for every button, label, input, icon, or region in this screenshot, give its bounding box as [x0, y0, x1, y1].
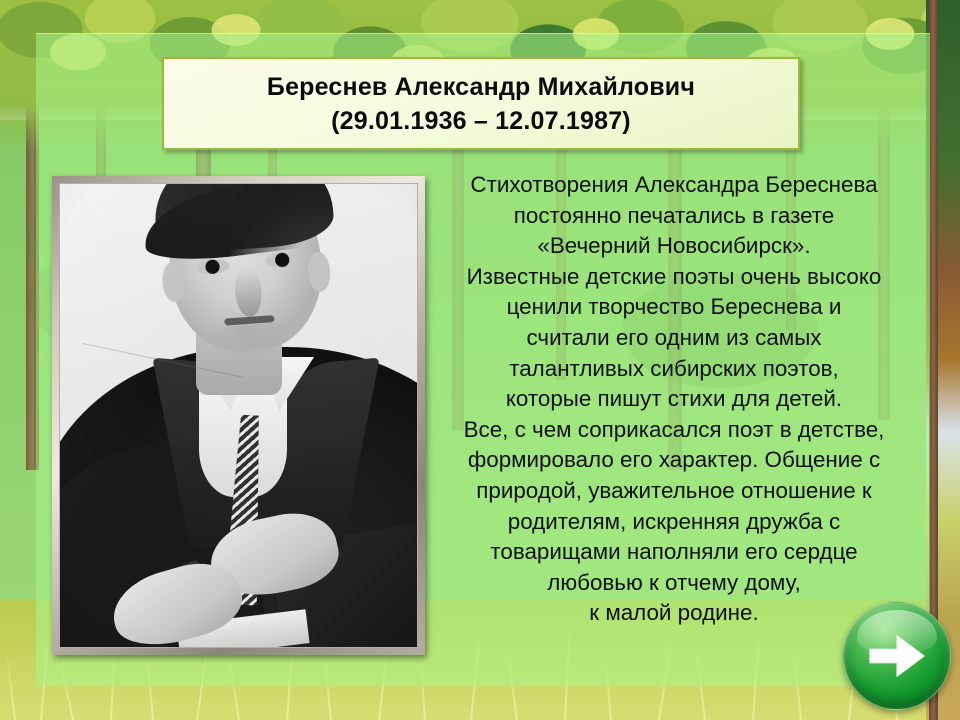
biography-line: к малой родине.	[438, 598, 910, 629]
biography-line: которые пишут стихи для детей.	[438, 384, 910, 415]
title-box: Береснев Александр Михайлович (29.01.193…	[162, 57, 800, 150]
arrow-right-icon	[866, 625, 928, 687]
biography-line: считали его одним из самых	[438, 323, 910, 354]
next-slide-button[interactable]	[843, 602, 951, 710]
portrait-photo	[60, 184, 417, 647]
biography-line: формировало его характер. Общение с	[438, 445, 910, 476]
biography-line: постоянно печатались в газете	[438, 201, 910, 232]
biography-line: «Вечерний Новосибирск».	[438, 231, 910, 262]
biography-line: Стихотворения Александра Береснева	[438, 170, 910, 201]
portrait-photo-inner	[59, 183, 418, 648]
biography-line: природой, уважительное отношение к	[438, 476, 910, 507]
biography-line: родителям, искренняя дружба с	[438, 507, 910, 538]
biography-line: Все, с чем соприкасался поэт в детстве,	[438, 415, 910, 446]
biography-line: ценили творчество Береснева и	[438, 292, 910, 323]
page-title-line-2: (29.01.1936 – 12.07.1987)	[331, 104, 631, 138]
portrait-photo-frame	[52, 176, 425, 655]
biography-line: Известные детские поэты очень высоко	[438, 262, 910, 293]
biography-line: любовью к отчему дому,	[438, 568, 910, 599]
biography-line: товарищами наполняли его сердце	[438, 537, 910, 568]
page-title-line-1: Береснев Александр Михайлович	[267, 70, 695, 104]
biography-line: талантливых сибирских поэтов,	[438, 354, 910, 385]
biography-text-block: Стихотворения Александра Береснева посто…	[438, 170, 910, 629]
right-edge-trunk	[929, 0, 938, 720]
slide-root: Береснев Александр Михайлович (29.01.193…	[0, 0, 960, 720]
